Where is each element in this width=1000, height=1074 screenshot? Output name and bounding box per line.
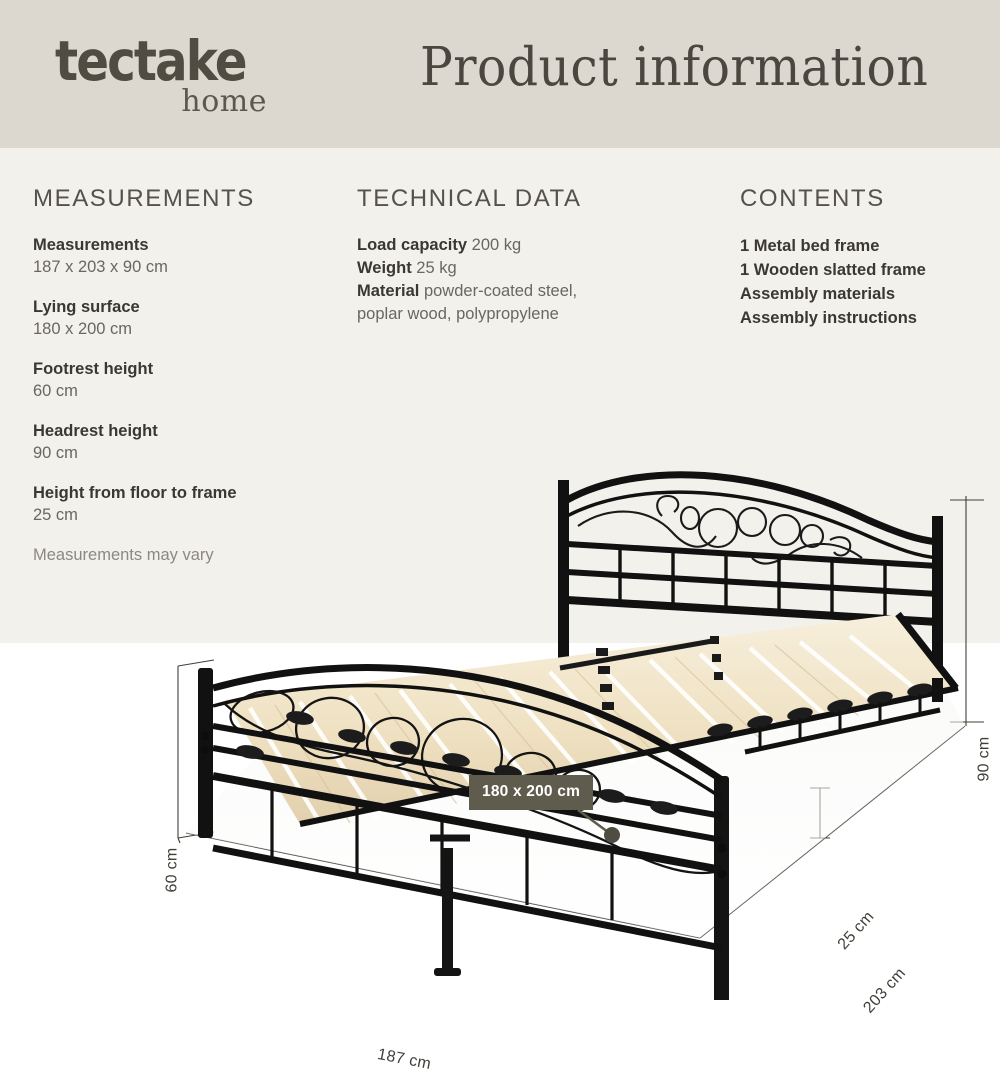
brand-logo: tectake home xyxy=(55,32,285,118)
dimension-label-width: 187 cm xyxy=(376,1046,433,1074)
logo-wordmark: tectake xyxy=(55,32,257,90)
header-band: tectake home Product information xyxy=(0,0,1000,148)
dimension-label-headrest-height: 90 cm xyxy=(976,736,994,781)
headboard-feet xyxy=(932,678,943,702)
lying-surface-callout: 180 x 200 cm xyxy=(469,775,593,810)
page-title: Product information xyxy=(420,36,928,100)
dimension-label-footrest-height: 60 cm xyxy=(164,847,182,892)
bed-diagram-svg xyxy=(0,148,1000,1000)
product-illustration: 180 x 200 cm 60 cm 90 cm 25 cm 203 cm 18… xyxy=(0,148,1000,1000)
